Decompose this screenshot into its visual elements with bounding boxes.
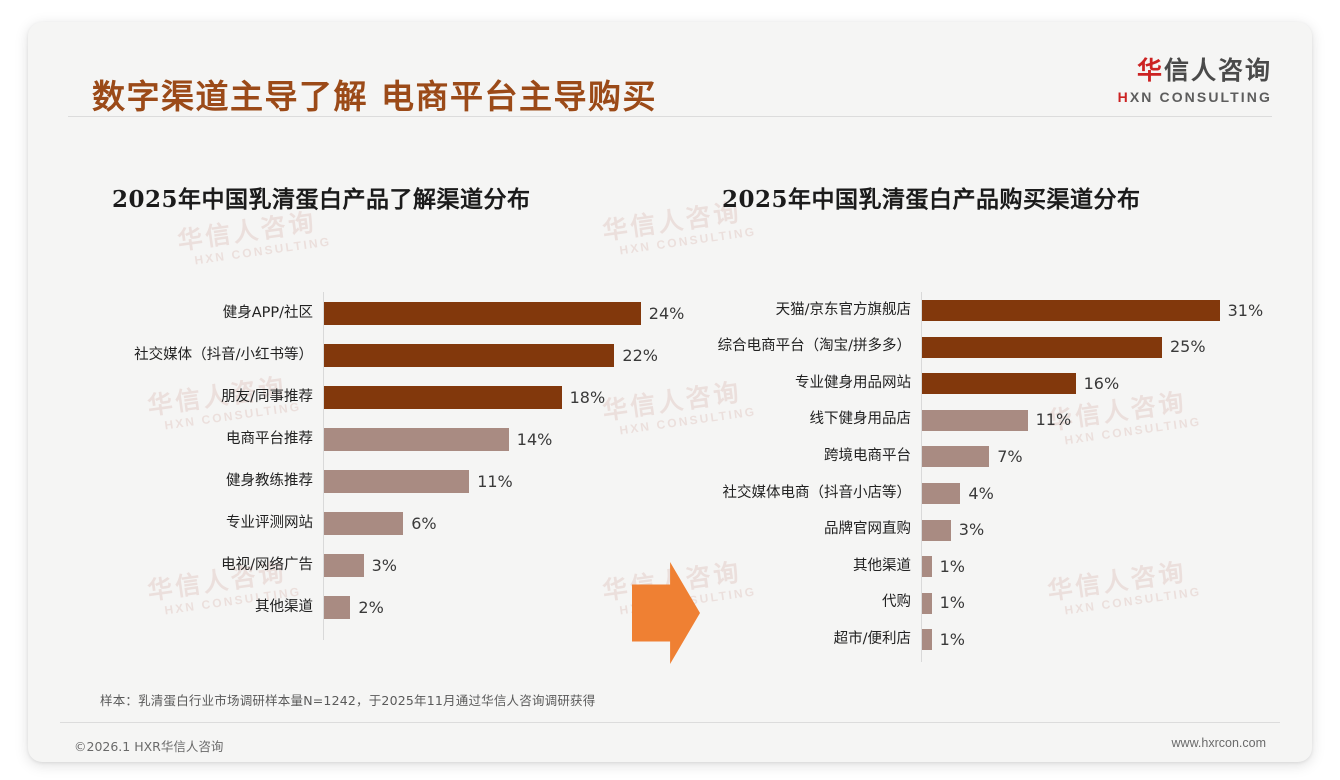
bar: [324, 554, 364, 577]
bar: [922, 300, 1220, 321]
logo-english-rest: XN CONSULTING: [1130, 89, 1272, 105]
chart-title: 2025年中国乳清蛋白产品了解渠道分布: [68, 180, 678, 214]
bar-category-label: 天猫/京东官方旗舰店: [688, 303, 911, 318]
bar-value-label: 3%: [372, 558, 397, 574]
bar-value-label: 14%: [517, 432, 553, 448]
header-divider: [68, 116, 1272, 117]
bar-value-label: 11%: [1036, 412, 1072, 428]
bar-value-label: 1%: [940, 595, 965, 611]
logo-english-accent: H: [1118, 89, 1130, 105]
bar-category-label: 其他渠道: [688, 559, 911, 574]
logo-chinese: 华信人咨询: [1118, 58, 1272, 83]
bar-value-label: 2%: [358, 600, 383, 616]
bar-value-label: 31%: [1228, 303, 1264, 319]
bar-value-label: 1%: [940, 559, 965, 575]
bar: [922, 593, 932, 614]
bar: [324, 386, 562, 409]
bar-category-label: 超市/便利店: [688, 632, 911, 647]
bar-category-label: 朋友/同事推荐: [68, 390, 313, 405]
bar: [922, 337, 1162, 358]
bar-value-label: 22%: [622, 348, 658, 364]
logo-chinese-rest: 信人咨询: [1164, 56, 1272, 85]
bar-category-label: 专业评测网站: [68, 516, 313, 531]
copyright-text: ©2026.1 HXR华信人咨询: [74, 736, 223, 755]
bar: [922, 373, 1076, 394]
bar-category-label: 电商平台推荐: [68, 432, 313, 447]
chart-title: 2025年中国乳清蛋白产品购买渠道分布: [688, 180, 1288, 214]
slide-header: 数字渠道主导了解 电商平台主导购买 华信人咨询 HXN CONSULTING: [28, 22, 1312, 118]
slide-footer: ©2026.1 HXR华信人咨询 www.hxrcon.com: [28, 728, 1312, 762]
bar: [324, 344, 614, 367]
bar-value-label: 25%: [1170, 339, 1206, 355]
bar-value-label: 6%: [411, 516, 436, 532]
bar-category-label: 电视/网络广告: [68, 558, 313, 573]
charts-area: 2025年中国乳清蛋白产品了解渠道分布 健身APP/社区24%社交媒体（抖音/小…: [28, 122, 1312, 682]
bar: [324, 428, 509, 451]
bar-category-label: 其他渠道: [68, 600, 313, 615]
bar-category-label: 代购: [688, 595, 911, 610]
bar-category-label: 综合电商平台（淘宝/拼多多）: [688, 339, 911, 354]
footer-divider: [60, 722, 1280, 723]
bar: [324, 470, 469, 493]
website-url: www.hxrcon.com: [1172, 736, 1266, 750]
source-note: 样本：乳清蛋白行业市场调研样本量N=1242，于2025年11月通过华信人咨询调…: [100, 690, 595, 709]
company-logo: 华信人咨询 HXN CONSULTING: [1118, 58, 1272, 104]
bar-value-label: 4%: [968, 486, 993, 502]
bar-value-label: 7%: [997, 449, 1022, 465]
bar-category-label: 线下健身用品店: [688, 412, 911, 427]
bar: [922, 520, 951, 541]
bar-category-label: 健身教练推荐: [68, 474, 313, 489]
bar-value-label: 24%: [649, 306, 685, 322]
page-title: 数字渠道主导了解 电商平台主导购买: [92, 70, 657, 118]
logo-english: HXN CONSULTING: [1118, 90, 1272, 104]
bar: [324, 596, 350, 619]
bar: [922, 410, 1028, 431]
bar: [922, 483, 960, 504]
bar-category-label: 社交媒体（抖音/小红书等）: [68, 348, 313, 363]
bar-value-label: 18%: [570, 390, 606, 406]
slide: 华信人咨询 HXN CONSULTING 华信人咨询 HXN CONSULTIN…: [0, 0, 1340, 780]
bar: [922, 446, 989, 467]
chart-panel-awareness: 2025年中国乳清蛋白产品了解渠道分布 健身APP/社区24%社交媒体（抖音/小…: [68, 122, 678, 682]
bar-category-label: 跨境电商平台: [688, 449, 911, 464]
bar-category-label: 健身APP/社区: [68, 306, 313, 321]
bar-category-label: 品牌官网直购: [688, 522, 911, 537]
chart-panel-purchase: 2025年中国乳清蛋白产品购买渠道分布 天猫/京东官方旗舰店31%综合电商平台（…: [688, 122, 1288, 682]
bar: [922, 629, 932, 650]
bar-category-label: 专业健身用品网站: [688, 376, 911, 391]
logo-chinese-accent: 华: [1137, 56, 1164, 85]
bar: [922, 556, 932, 577]
slide-card: 华信人咨询 HXN CONSULTING 华信人咨询 HXN CONSULTIN…: [28, 22, 1312, 762]
bar-value-label: 16%: [1084, 376, 1120, 392]
bar-value-label: 1%: [940, 632, 965, 648]
bar-value-label: 11%: [477, 474, 513, 490]
bar: [324, 512, 403, 535]
bar: [324, 302, 641, 325]
bar-value-label: 3%: [959, 522, 984, 538]
bar-category-label: 社交媒体电商（抖音小店等）: [688, 486, 911, 501]
